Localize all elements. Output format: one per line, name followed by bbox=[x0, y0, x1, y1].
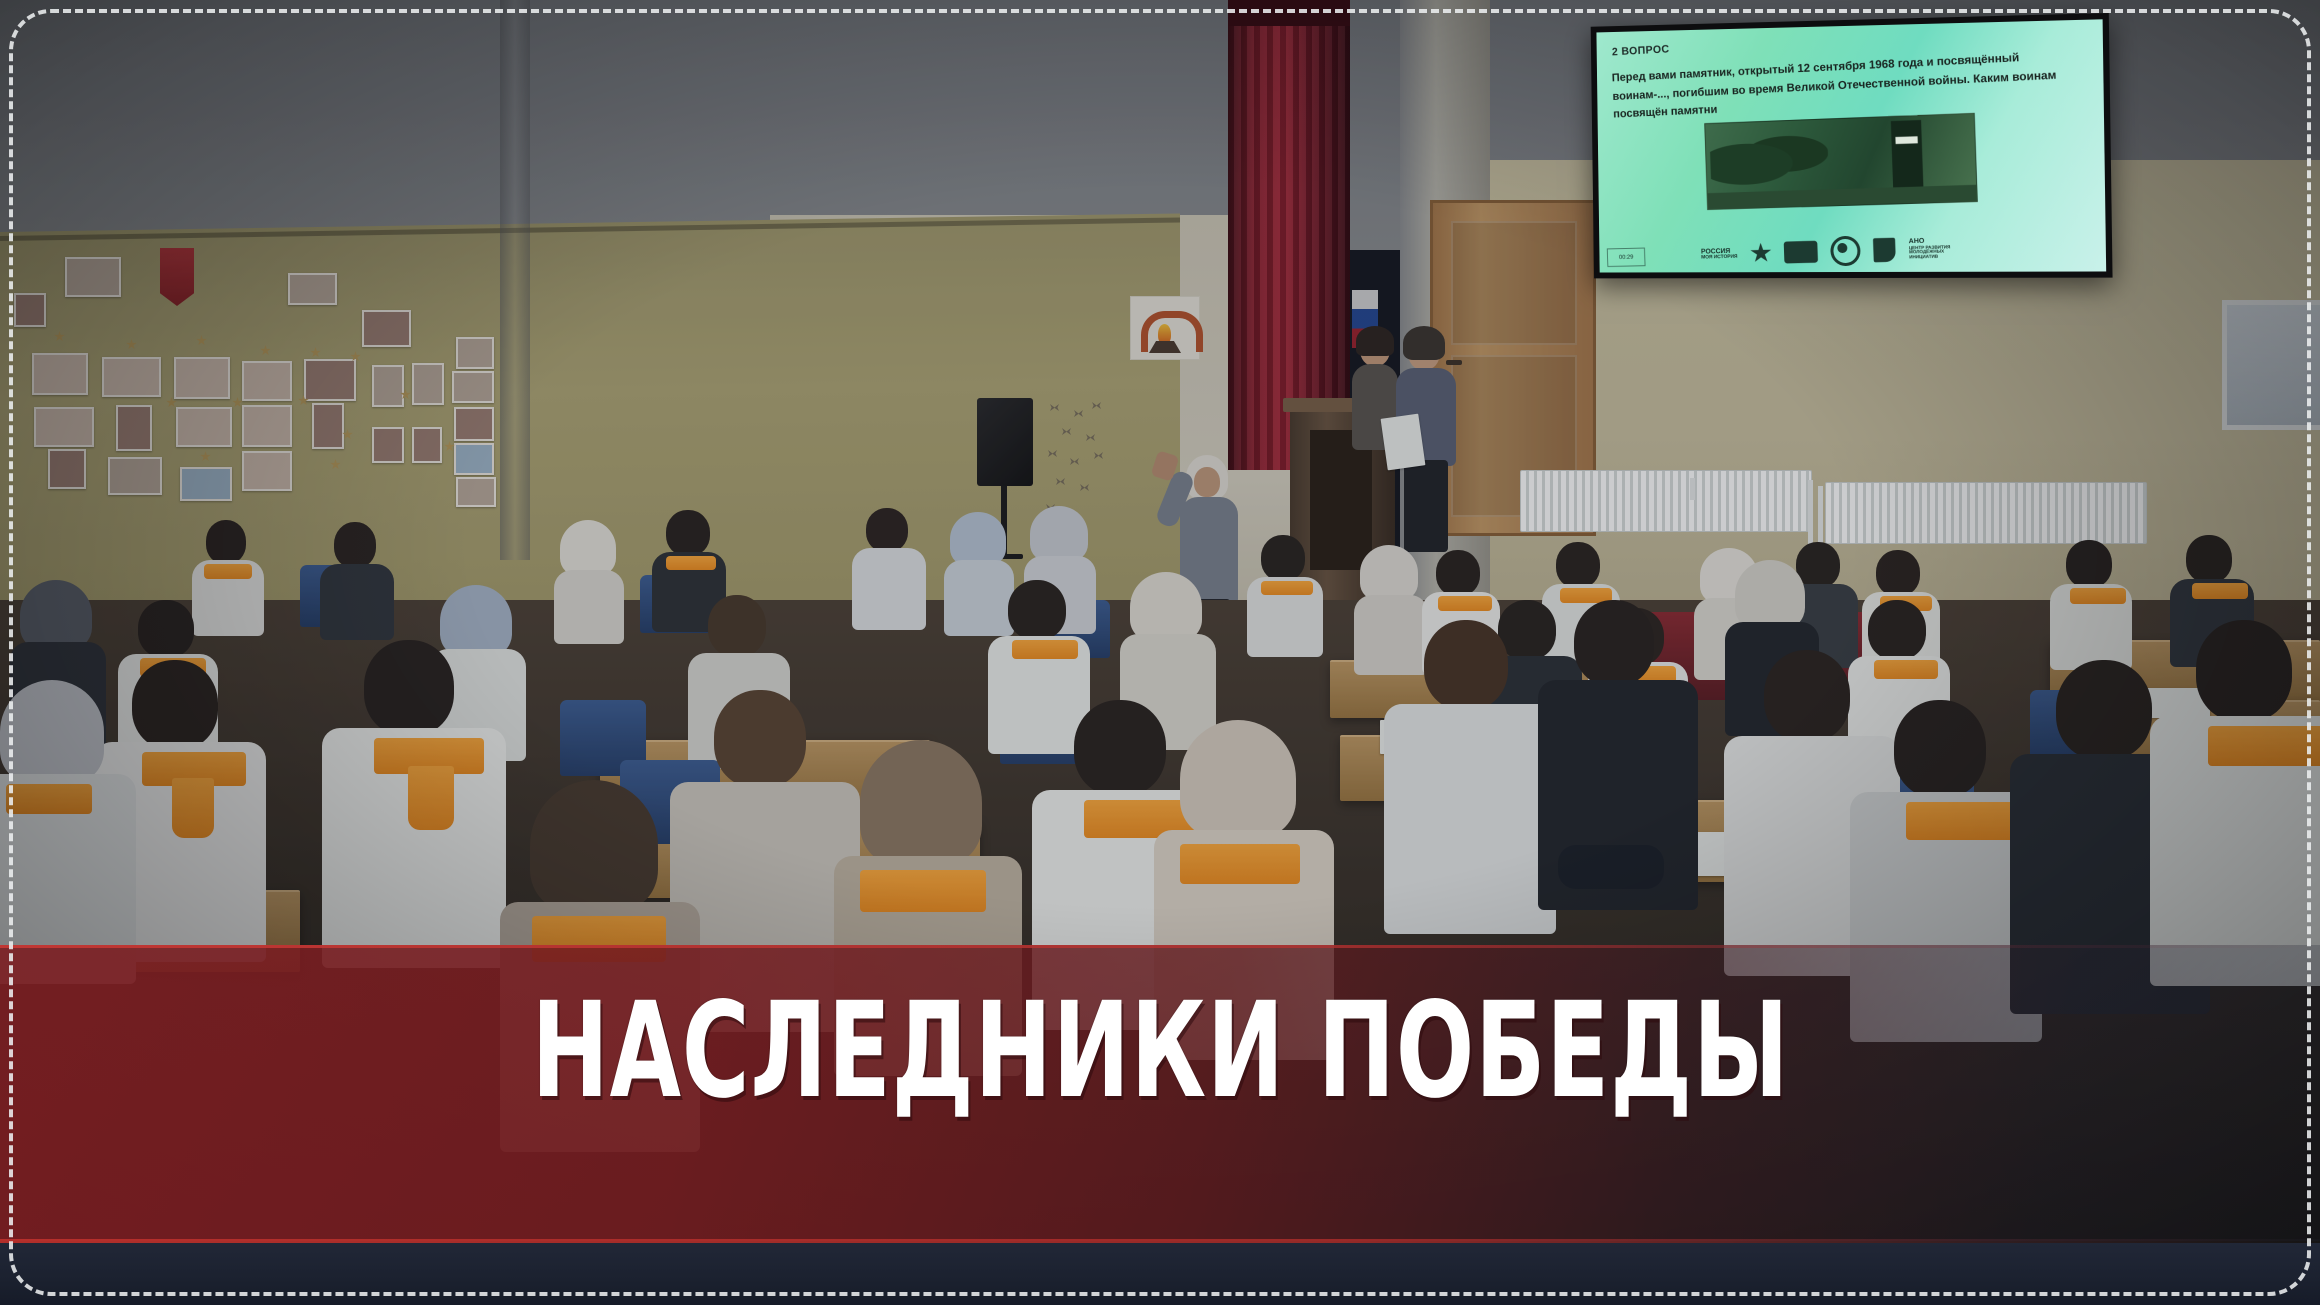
radiator-left bbox=[1520, 470, 1812, 532]
door-handle bbox=[1446, 360, 1462, 365]
curtain-rail bbox=[1228, 0, 1350, 26]
window bbox=[2222, 300, 2320, 430]
ano-logo bbox=[1873, 238, 1896, 263]
bottom-strip bbox=[0, 1243, 2320, 1305]
photo-wall-gallery bbox=[20, 245, 530, 535]
bag-on-desk bbox=[1558, 845, 1664, 889]
screenshot-canvas: 2 ВОПРОС Перед вами памятник, открытый 1… bbox=[0, 0, 2320, 1305]
slide-question-text: Перед вами памятник, открытый 12 сентябр… bbox=[1611, 46, 2079, 124]
slide-content: 2 ВОПРОС Перед вами памятник, открытый 1… bbox=[1596, 19, 2106, 272]
dagestan-eagle-logo bbox=[1830, 236, 1861, 267]
ano-logo-text: АНО ЦЕНТР РАЗВИТИЯ МОЛОДЁЖНЫХ ИНИЦИАТИВ bbox=[1909, 237, 1967, 260]
projector-screen: 2 ВОПРОС Перед вами памятник, открытый 1… bbox=[1591, 13, 2113, 278]
radiator-right bbox=[1825, 482, 2147, 544]
equestrian-logo bbox=[1784, 241, 1818, 264]
star-logo bbox=[1750, 242, 1772, 263]
banner-top-edge bbox=[0, 945, 2320, 948]
slide-logo-row: РОССИЯ МОЯ ИСТОРИЯ АНО ЦЕНТР РАЗВИТИЯ МО… bbox=[1701, 232, 1991, 269]
slide-question-label: 2 ВОПРОС bbox=[1612, 43, 1670, 58]
slide-monument-photo bbox=[1704, 113, 1978, 210]
eternal-flame-poster bbox=[1130, 296, 1200, 360]
pa-speaker bbox=[977, 398, 1033, 486]
podium-panel bbox=[1310, 430, 1372, 570]
slide-page-indicator: 00:29 bbox=[1607, 247, 1646, 267]
rossiya-moya-istoriya-logo: РОССИЯ МОЯ ИСТОРИЯ bbox=[1701, 247, 1738, 260]
